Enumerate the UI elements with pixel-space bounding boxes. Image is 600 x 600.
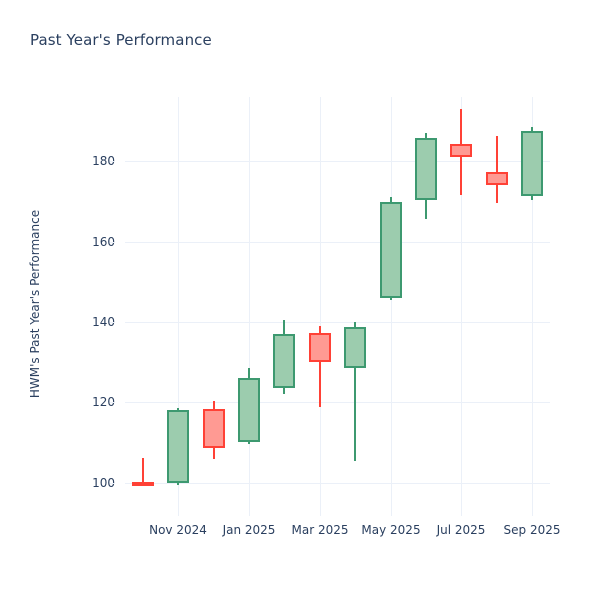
- x-axis-tick-label: Jan 2025: [223, 523, 276, 537]
- x-axis-tick-labels: Nov 2024Jan 2025Mar 2025May 2025Jul 2025…: [125, 511, 550, 551]
- y-axis-title: HWM's Past Year's Performance: [28, 97, 48, 511]
- x-axis-tick-label: Nov 2024: [149, 523, 207, 537]
- y-axis-tick-mark: [110, 483, 115, 484]
- x-axis-tick-label: Sep 2025: [504, 523, 561, 537]
- candlestick-chart: Past Year's Performance HWM's Past Year'…: [0, 0, 600, 600]
- x-axis-tick-label: May 2025: [361, 523, 420, 537]
- plot-area[interactable]: [125, 97, 550, 511]
- x-axis-tick-mark: [391, 511, 392, 516]
- x-axis-tick-mark: [249, 511, 250, 516]
- y-axis-tick-mark: [110, 402, 115, 403]
- y-axis-tick-mark: [110, 242, 115, 243]
- y-axis-tick-labels: 100120140160180: [57, 97, 115, 511]
- x-axis-tick-mark: [461, 511, 462, 516]
- x-axis-tick-mark: [320, 511, 321, 516]
- y-axis-tick-mark: [110, 161, 115, 162]
- candlestick-increasing[interactable]: [125, 97, 550, 511]
- candlestick-body: [521, 131, 543, 196]
- x-axis-tick-label: Mar 2025: [292, 523, 349, 537]
- page-title: Past Year's Performance: [30, 31, 212, 49]
- x-axis-tick-mark: [178, 511, 179, 516]
- y-axis-title-container: HWM's Past Year's Performance: [28, 97, 48, 511]
- x-axis-tick-label: Jul 2025: [437, 523, 486, 537]
- y-axis-tick-mark: [110, 322, 115, 323]
- x-axis-tick-mark: [532, 511, 533, 516]
